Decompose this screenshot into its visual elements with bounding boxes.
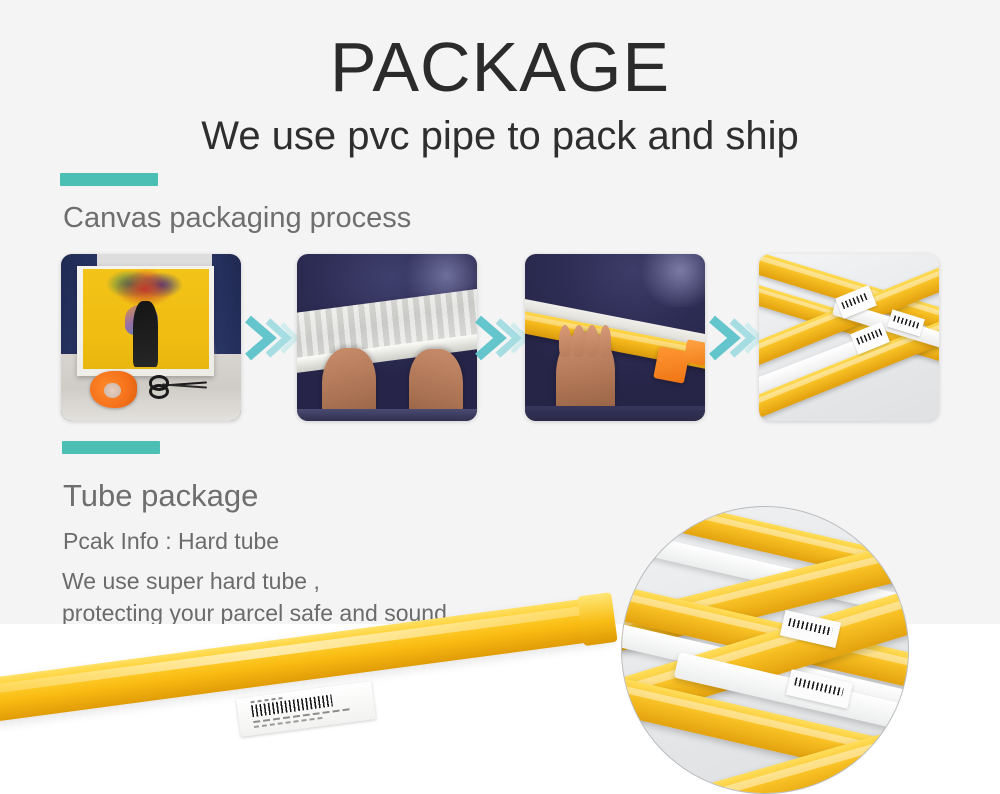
page-title: PACKAGE [0,28,1000,106]
process-photo-wrapping-film [297,254,477,421]
photo3-tape-roll [683,339,705,366]
process-photo-packed-tubes [759,254,939,421]
tube-info-line-2: We use super hard tube , [62,568,320,595]
photo3-light-glow [637,254,705,307]
process-photo-taping-tube [525,254,705,421]
accent-bar-canvas-section [60,173,158,186]
tape-dispenser-icon [90,371,137,408]
tube-closeup-circle-photo [621,506,909,794]
photo1-canvas-painting [83,269,209,369]
double-chevron-right-icon [244,305,298,371]
process-photo-canvas-artwork [61,254,241,421]
scissors-icon [149,374,207,394]
photo3-finger [586,325,598,357]
double-chevron-right-icon [708,305,762,371]
tube-info-line-1: Pcak Info : Hard tube [63,528,279,555]
tube-info-line-3: protecting your parcel safe and sound [62,600,447,627]
accent-bar-tube-section [62,441,160,454]
section-heading-tube-package: Tube package [63,478,258,514]
package-infographic-page: PACKAGE We use pvc pipe to pack and ship… [0,0,1000,794]
photo2-table-edge [297,409,477,421]
photo3-finger [573,325,585,357]
page-subtitle: We use pvc pipe to pack and ship [0,112,1000,160]
section-heading-canvas-packaging: Canvas packaging process [63,202,411,235]
photo3-floor [525,406,705,421]
tube-end-cap [577,592,617,646]
photo3-finger [559,325,571,357]
double-chevron-right-icon [474,305,528,371]
photo1-painting-figure [133,301,158,367]
photo3-finger [600,325,612,357]
